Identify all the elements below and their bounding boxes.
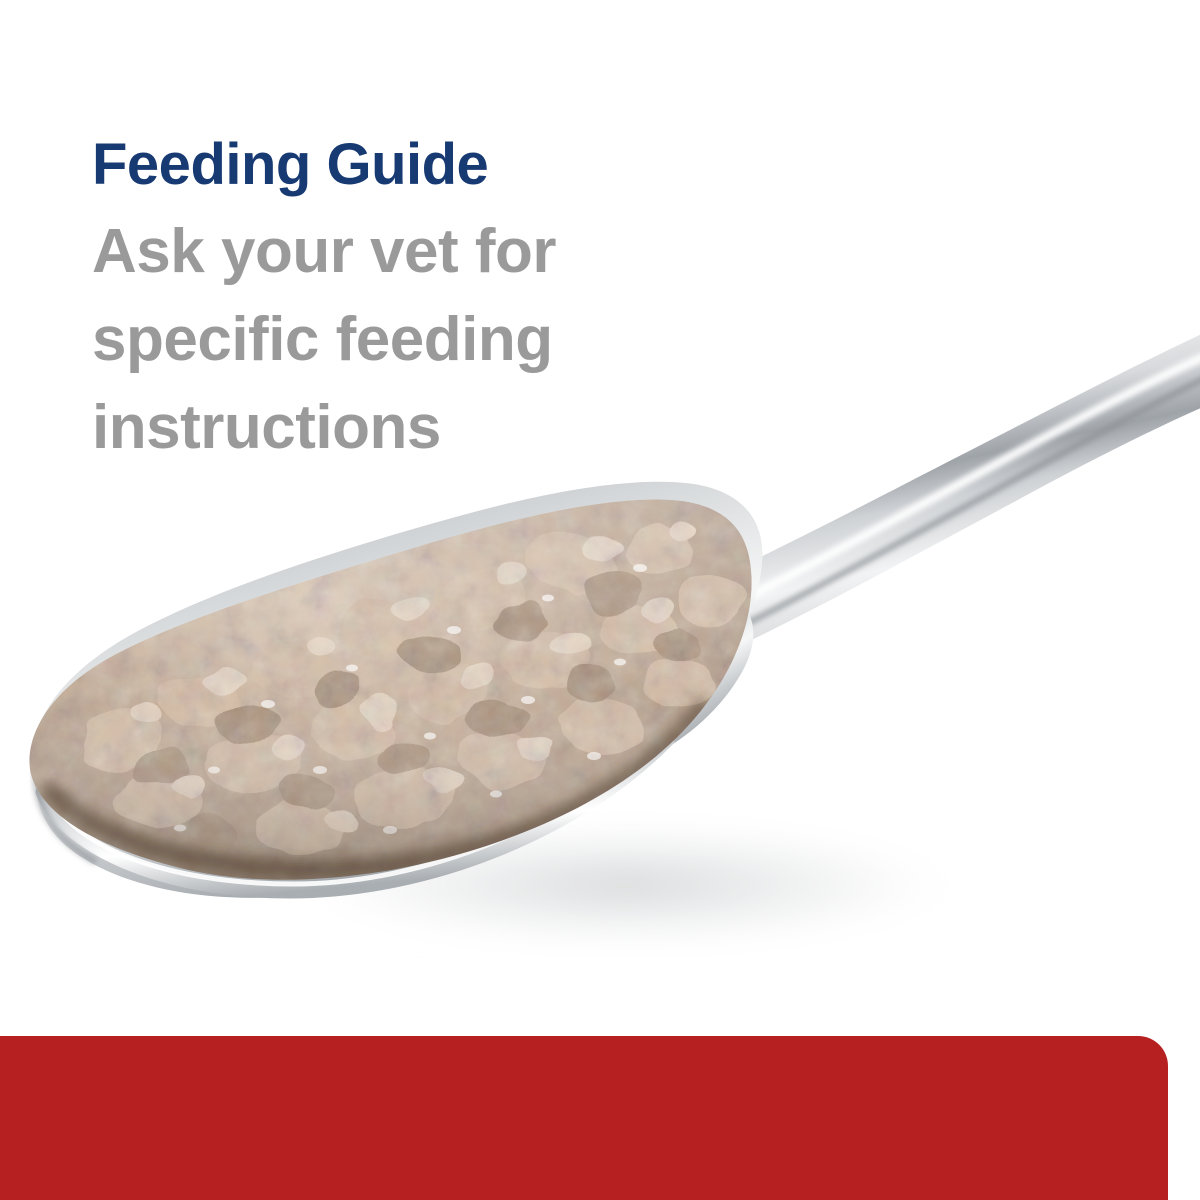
footer-band xyxy=(0,1036,1168,1200)
page-subtitle: Ask your vet for specific feeding instru… xyxy=(92,208,752,472)
feeding-guide-panel: Feeding Guide Ask your vet for specific … xyxy=(0,0,1200,1200)
page-title: Feeding Guide xyxy=(92,132,792,198)
feeding-guide-text-block: Feeding Guide Ask your vet for specific … xyxy=(92,132,792,472)
